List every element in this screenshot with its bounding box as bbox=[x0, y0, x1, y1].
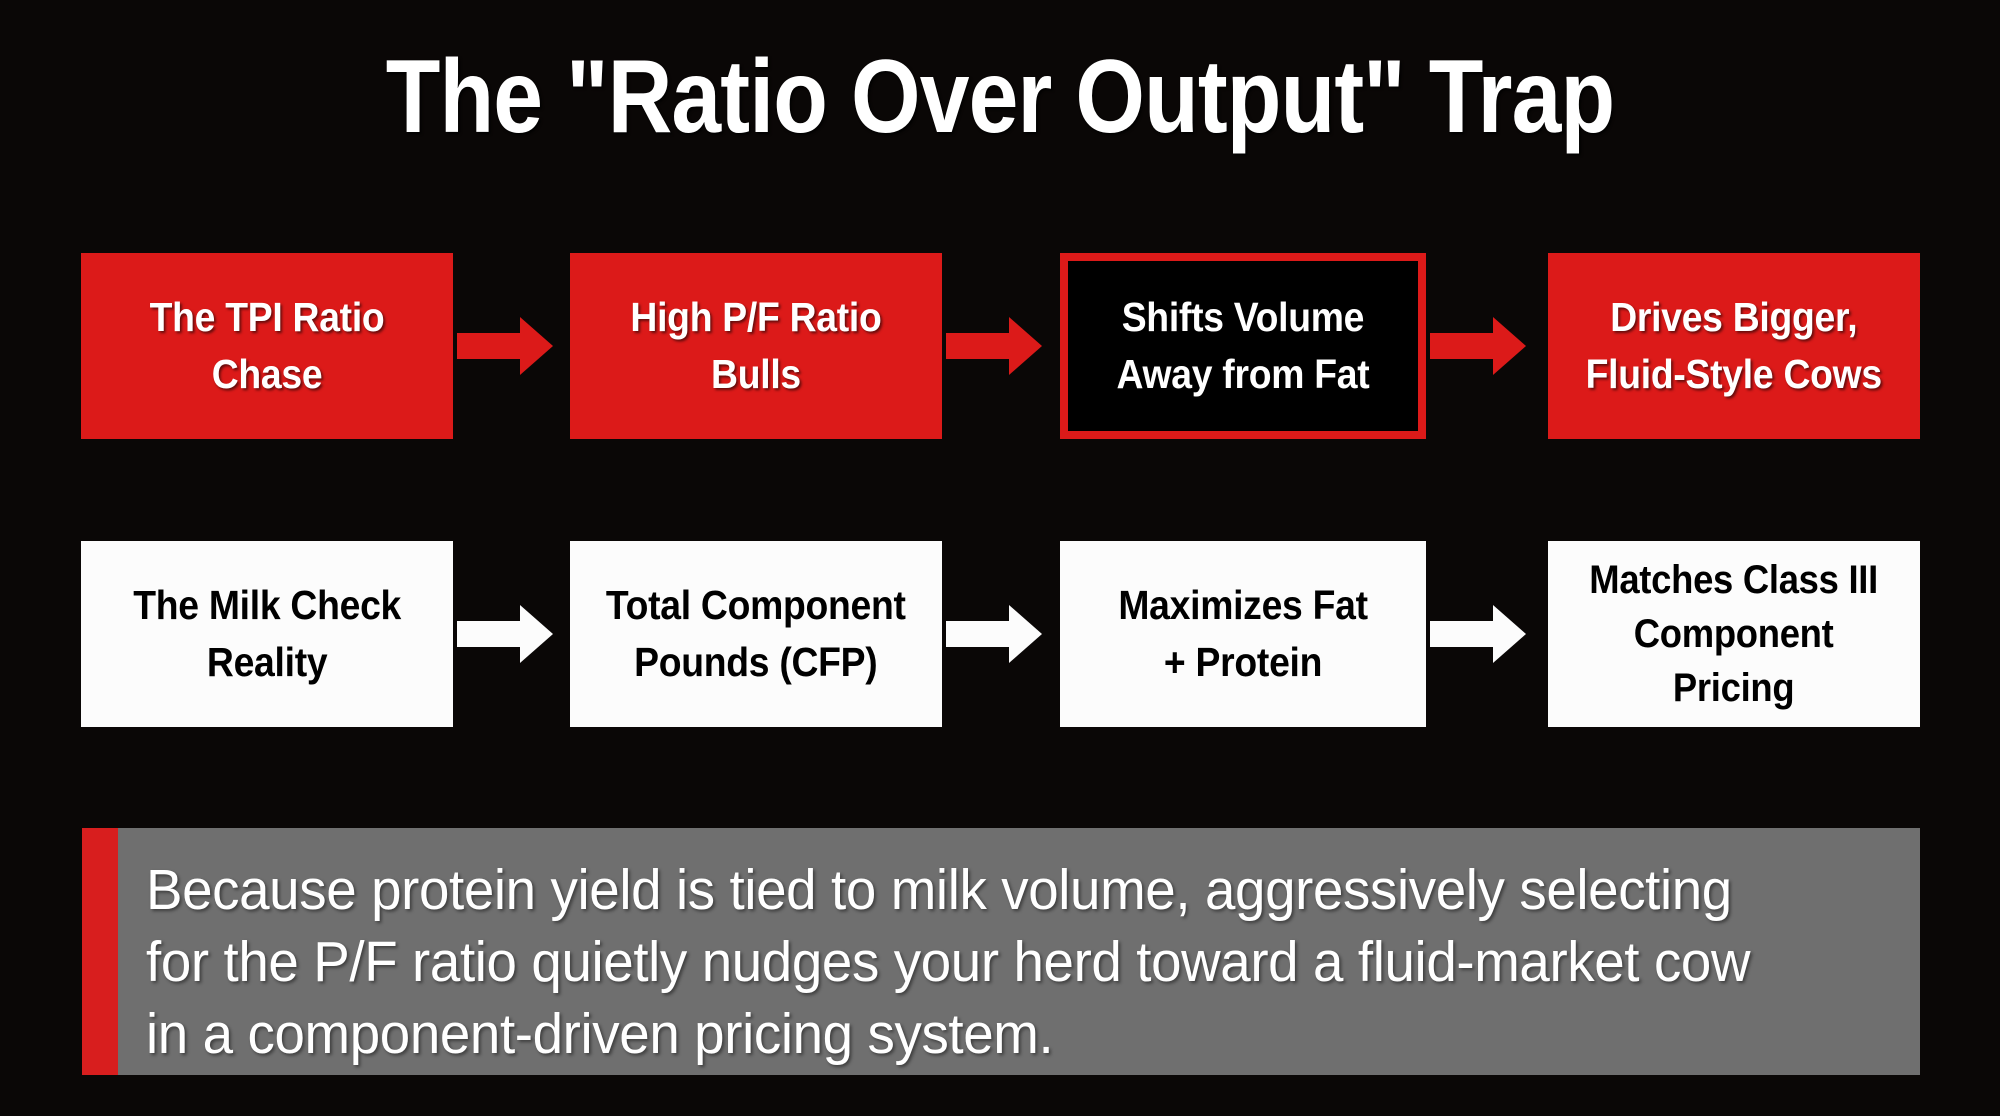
caption-line-3: in a component-driven pricing system. bbox=[146, 998, 1822, 1070]
flow-node-label: Maximizes Fat + Protein bbox=[1118, 577, 1367, 691]
arrow-right-icon-bottom-1 bbox=[457, 605, 553, 663]
flow-node-label: The TPI Ratio Chase bbox=[150, 289, 385, 403]
flow-node-tpi-ratio-chase[interactable]: The TPI Ratio Chase bbox=[81, 253, 453, 439]
arrow-right-icon-bottom-2 bbox=[946, 605, 1042, 663]
flow-node-label: High P/F Ratio Bulls bbox=[630, 289, 881, 403]
flow-node-shifts-volume-away-from-fat[interactable]: Shifts Volume Away from Fat bbox=[1060, 253, 1426, 439]
flow-node-maximizes-fat-plus-protein[interactable]: Maximizes Fat + Protein bbox=[1060, 541, 1426, 727]
flow-node-the-milk-check-reality[interactable]: The Milk Check Reality bbox=[81, 541, 453, 727]
flow-node-label: Shifts Volume Away from Fat bbox=[1117, 289, 1370, 403]
flow-node-matches-class-iii-component-pricing[interactable]: Matches Class III Component Pricing bbox=[1548, 541, 1920, 727]
arrow-shaft bbox=[457, 333, 521, 359]
arrow-right-icon-bottom-3 bbox=[1430, 605, 1526, 663]
flow-row-bottom: The Milk Check Reality Total Component P… bbox=[0, 541, 2000, 727]
flow-node-drives-bigger-fluid-style-cows[interactable]: Drives Bigger, Fluid-Style Cows bbox=[1548, 253, 1920, 439]
arrow-head bbox=[1493, 605, 1526, 663]
arrow-head bbox=[1009, 317, 1042, 375]
arrow-right-icon-top-3 bbox=[1430, 317, 1526, 375]
page-title: The "Ratio Over Output" Trap bbox=[140, 38, 1860, 156]
arrow-head bbox=[520, 317, 553, 375]
arrow-shaft bbox=[1430, 621, 1494, 647]
flow-node-label: Total Component Pounds (CFP) bbox=[606, 577, 906, 691]
caption-line-2: for the P/F ratio quietly nudges your he… bbox=[146, 926, 1822, 998]
arrow-head bbox=[1493, 317, 1526, 375]
caption-text: Because protein yield is tied to milk vo… bbox=[118, 828, 1920, 1075]
flow-node-label: The Milk Check Reality bbox=[133, 577, 401, 691]
caption-line-1: Because protein yield is tied to milk vo… bbox=[146, 854, 1822, 926]
arrow-right-icon-top-2 bbox=[946, 317, 1042, 375]
arrow-shaft bbox=[946, 621, 1010, 647]
arrow-shaft bbox=[946, 333, 1010, 359]
flow-row-top: The TPI Ratio Chase High P/F Ratio Bulls… bbox=[0, 253, 2000, 439]
arrow-shaft bbox=[457, 621, 521, 647]
arrow-head bbox=[1009, 605, 1042, 663]
caption-callout: Because protein yield is tied to milk vo… bbox=[82, 828, 1920, 1075]
arrow-right-icon-top-1 bbox=[457, 317, 553, 375]
flow-node-label: Matches Class III Component Pricing bbox=[1590, 553, 1879, 715]
flow-node-total-component-pounds[interactable]: Total Component Pounds (CFP) bbox=[570, 541, 942, 727]
flow-node-high-pf-ratio-bulls[interactable]: High P/F Ratio Bulls bbox=[570, 253, 942, 439]
arrow-head bbox=[520, 605, 553, 663]
arrow-shaft bbox=[1430, 333, 1494, 359]
caption-accent-bar bbox=[82, 828, 118, 1075]
flow-node-label: Drives Bigger, Fluid-Style Cows bbox=[1586, 289, 1882, 403]
slide-canvas: The "Ratio Over Output" Trap The TPI Rat… bbox=[0, 0, 2000, 1116]
